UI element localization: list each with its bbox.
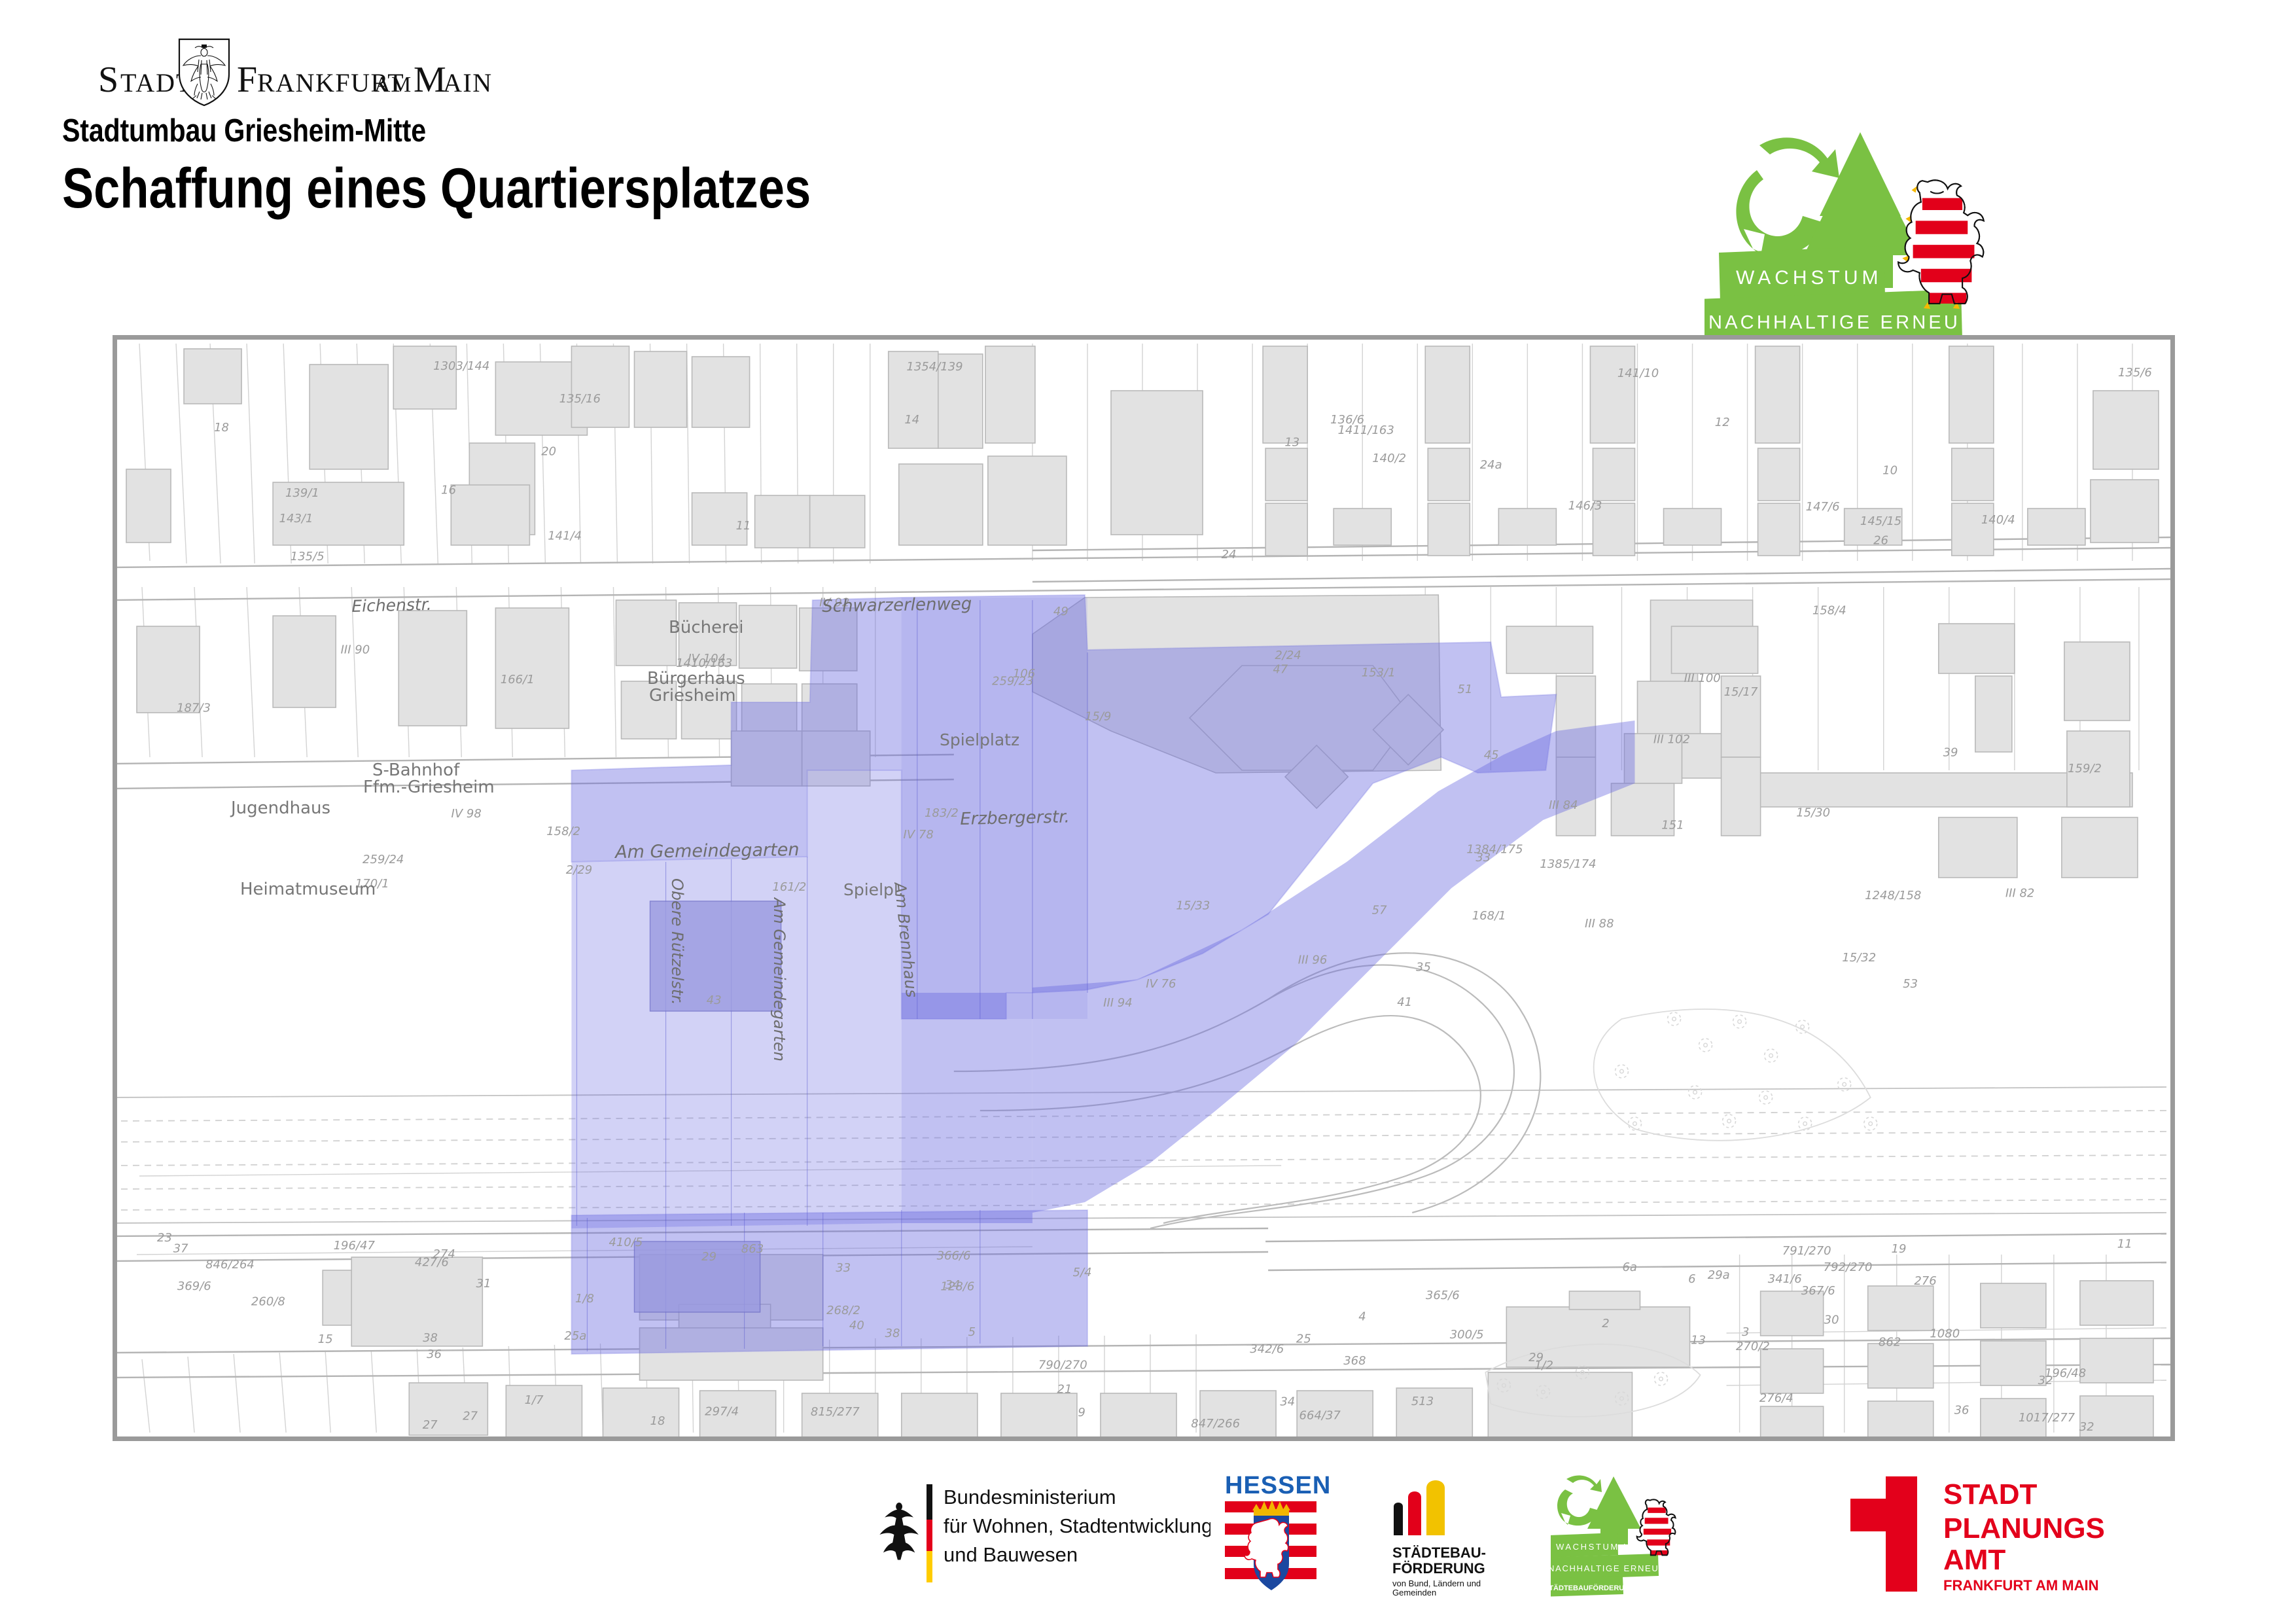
parcel-number: III 82: [2005, 887, 2035, 901]
map-drawing: 136/62424a26135/5135/16135/61354/139139/…: [116, 338, 2172, 1438]
parcel-number: 366/6: [937, 1249, 971, 1263]
parcel-number: 300/5: [1450, 1328, 1484, 1342]
page-subtitle: Stadtumbau Griesheim-Mitte: [62, 115, 1326, 147]
footer-logo-bar: Bundesministerium für Wohnen, Stadtentwi…: [0, 1472, 2296, 1603]
parcel-number: 158/2: [546, 825, 580, 838]
street-label-0: Eichenstr.: [351, 595, 432, 616]
parcel-number: 31: [476, 1277, 491, 1291]
parcel-number: 792/270: [1824, 1260, 1873, 1274]
parcel-number: 135/6: [2118, 366, 2152, 380]
parcel-number: 29: [701, 1250, 716, 1264]
parcel-number: 368: [1343, 1354, 1366, 1368]
parcel-number: 51: [1458, 683, 1473, 696]
three-houses-icon: [1394, 1480, 1445, 1535]
parcel-number: 25a: [564, 1329, 586, 1343]
parcel-number: 183/2: [925, 806, 959, 820]
place-label-6: Heimatmuseum: [240, 880, 376, 899]
parcel-number: 863: [741, 1242, 764, 1256]
parcel-number: IV 98: [451, 807, 482, 821]
parcel-number: III 94: [1103, 996, 1133, 1010]
parcel-number: 276/4: [1759, 1391, 1793, 1405]
parcel-number: 846/264: [205, 1258, 255, 1272]
parcel-number: 410/5: [609, 1236, 643, 1249]
parcel-number: 1/2: [1534, 1359, 1553, 1372]
parcel-number: 161/2: [772, 880, 806, 894]
parcel-number: 26: [1873, 534, 1888, 548]
street-label-1: Schwarzerlenweg: [822, 594, 972, 616]
parcel-number: 790/270: [1038, 1358, 1087, 1372]
parcel-number: 12: [1715, 416, 1730, 429]
parcel-number: 1303/144: [433, 359, 489, 373]
parcel-number: 1384/175: [1466, 842, 1523, 856]
parcel-number: 140/2: [1372, 452, 1406, 465]
parcel-number: 159/2: [2068, 762, 2102, 776]
svg-text:STÄDTEBAUFÖRDERUNG HESSEN: STÄDTEBAUFÖRDERUNG HESSEN: [1551, 1584, 1667, 1592]
parcel-number: 27: [463, 1410, 478, 1423]
parcel-number: 6a: [1622, 1260, 1636, 1274]
parcel-number: 57: [1372, 904, 1387, 918]
title-block: Stadtumbau Griesheim-Mitte Schaffung ein…: [62, 115, 1567, 217]
bmwsb-line-2: für Wohnen, Stadtentwicklung: [944, 1514, 1210, 1537]
parcel-number: 15/30: [1796, 806, 1830, 819]
parcel-number: 29a: [1708, 1268, 1730, 1282]
parcel-number: 513: [1411, 1395, 1434, 1408]
parcel-number: 140/4: [1981, 513, 2015, 527]
place-label-0: Bücherei: [669, 618, 743, 637]
hessen-wordmark: HESSEN: [1225, 1472, 1331, 1499]
staedtebau-line-4: Gemeinden: [1392, 1588, 1436, 1597]
parcel-number: 270/2: [1736, 1340, 1770, 1353]
parcel-number: 18: [214, 421, 229, 435]
parcel-number: 32: [2079, 1420, 2094, 1434]
parcel-number: III 102: [1653, 733, 1690, 747]
parcel-number: 15/33: [1176, 899, 1210, 912]
hessen-logo: HESSEN: [1217, 1472, 1341, 1597]
parcel-number: 19: [1892, 1242, 1907, 1256]
stadt-frankfurt-logo: S TADT F RANKFURT AM M: [98, 34, 517, 106]
street-label-3: Erzbergerstr.: [960, 807, 1070, 829]
parcel-number: 1017/277: [2019, 1411, 2075, 1425]
svg-text:WACHSTUM UND: WACHSTUM UND: [1556, 1542, 1647, 1552]
place-label-7: Spielplatz: [940, 730, 1019, 749]
badge-line-2: NACHHALTIGE ERNEUERUNG: [1708, 312, 2043, 333]
hessen-flag-icon: [1225, 1500, 1316, 1593]
badge-band-2-small: NACHHALTIGE ERNEUERUNG: [1551, 1554, 1695, 1580]
parcel-number: 341/6: [1768, 1272, 1802, 1286]
parcel-number: 25: [1296, 1332, 1311, 1346]
badge-band-3-small: STÄDTEBAUFÖRDERUNG HESSEN: [1551, 1576, 1667, 1597]
parcel-number: 49: [1053, 605, 1069, 618]
parcel-number: III 88: [1585, 917, 1614, 931]
place-label-8: Spielpl.: [843, 880, 904, 899]
bundesadler-icon: [879, 1503, 918, 1560]
parcel-number: 11: [736, 519, 751, 533]
staedtebau-line-2: FÖRDERUNG: [1392, 1560, 1485, 1577]
parcel-number: 145/15: [1860, 514, 1901, 528]
parcel-number: 38: [423, 1331, 438, 1345]
parcel-number: 369/6: [177, 1279, 211, 1293]
wachstum-und-nachhaltige-erneuerung-logo-small: WACHSTUM UND NACHHALTIGE ERNEUERUNG STÄD…: [1551, 1472, 1734, 1597]
parcel-number: 47: [1273, 663, 1288, 677]
parcel-number: 153/1: [1362, 666, 1396, 679]
parcel-number: IV 76: [1146, 977, 1176, 991]
parcel-number: III 84: [1549, 798, 1578, 812]
parcel-number: III 100: [1684, 671, 1721, 685]
svg-text:NACHHALTIGE ERNEUERUNG: NACHHALTIGE ERNEUERUNG: [1551, 1563, 1695, 1573]
parcel-number: 45: [1484, 749, 1499, 762]
parcel-number: 196/47: [334, 1239, 376, 1253]
parcel-number: 147/6: [1806, 500, 1840, 514]
parcel-number: 21: [1057, 1382, 1072, 1396]
svg-text:AM: AM: [374, 73, 412, 97]
parcel-number: 187/3: [177, 701, 211, 715]
parcel-number: 268/2: [826, 1304, 860, 1317]
spa-mark-icon: [1850, 1476, 1917, 1592]
parcel-number: 135/5: [291, 550, 325, 563]
hessen-lion-icon: [1898, 180, 1984, 309]
place-label-4: Ffm.-Griesheim: [363, 777, 495, 797]
parcel-number: 41: [1397, 995, 1412, 1009]
parcel-number: 2/24: [1275, 649, 1301, 662]
spa-line-2: PLANUNGS: [1943, 1512, 2105, 1544]
parcel-number: 15/9: [1085, 709, 1111, 723]
place-label-5: Jugendhaus: [231, 798, 330, 818]
street-label-4: Obere Rützelstr.: [668, 878, 686, 1005]
parcel-number: 38: [885, 1327, 900, 1340]
parcel-number: 2: [1602, 1317, 1609, 1330]
parcel-number: 297/4: [705, 1405, 739, 1419]
parcel-number: 367/6: [1801, 1284, 1835, 1298]
parcel-number: 1248/158: [1865, 889, 1921, 902]
parcel-number: 18: [650, 1414, 665, 1428]
parcel-number: 166/1: [501, 673, 535, 687]
bmwsb-line-3: und Bauwesen: [944, 1543, 1078, 1566]
parcel-number: 106: [1013, 667, 1035, 681]
parcel-number: 141/10: [1617, 366, 1659, 380]
parcel-number: 27: [423, 1418, 438, 1432]
parcel-number: 168/1: [1472, 909, 1506, 923]
place-label-2: Griesheim: [649, 686, 736, 705]
cadastral-map[interactable]: 136/62424a26135/5135/16135/61354/139139/…: [113, 335, 2175, 1441]
parcel-number: 14: [904, 413, 919, 427]
parcel-number: 43: [707, 993, 722, 1007]
parcel-number: 36: [427, 1347, 442, 1361]
svg-text:AIN: AIN: [443, 68, 493, 98]
street-label-2: Am Gemeindegarten: [615, 840, 800, 863]
parcel-number: 24a: [1480, 458, 1502, 472]
parcel-number: 260/8: [251, 1294, 285, 1308]
staedtebau-line-1: STÄDTEBAU-: [1392, 1544, 1486, 1561]
parcel-number: 141/4: [548, 529, 582, 543]
parcel-number: 1080: [1930, 1327, 1960, 1340]
parcel-number: 2/29: [566, 863, 592, 877]
badge-band-1-small: WACHSTUM UND: [1551, 1533, 1647, 1558]
parcel-number: 20: [541, 445, 556, 459]
parcel-number: 5/4: [1073, 1266, 1092, 1279]
parcel-number: 10: [1882, 463, 1898, 477]
parcel-number: 15: [318, 1332, 333, 1346]
parcel-number: 11: [2117, 1237, 2132, 1251]
parcel-number: 34: [1280, 1395, 1295, 1408]
parcel-number: 158/4: [1812, 603, 1846, 617]
parcel-number: 1385/174: [1540, 857, 1596, 871]
parcel-number: 427/6: [415, 1256, 449, 1270]
parcel-number: 9: [1078, 1406, 1085, 1419]
parcel-number: 151: [1661, 819, 1684, 832]
staedtebaufoerderung-logo: STÄDTEBAU- FÖRDERUNG von Bund, Ländern u…: [1381, 1472, 1531, 1597]
parcel-number: 276: [1914, 1274, 1936, 1288]
spa-line-4: FRANKFURT AM MAIN: [1943, 1577, 2098, 1594]
parcel-number: 16: [441, 484, 456, 497]
parcel-number: 13: [1284, 436, 1299, 450]
page-title: Schaffung eines Quartiersplatzes: [62, 160, 1326, 217]
parcel-number: 1/7: [525, 1393, 544, 1407]
parcel-number: 791/270: [1782, 1244, 1831, 1258]
parcel-number: 33: [836, 1261, 851, 1275]
parcel-number: 1411/163: [1338, 423, 1394, 437]
svg-text:S: S: [98, 60, 119, 100]
parcel-number: 35: [1416, 961, 1431, 974]
parcel-number: III 90: [341, 643, 370, 657]
parcel-number: 15/17: [1724, 685, 1758, 699]
parcel-number: 128/6: [940, 1279, 974, 1293]
parcel-number: 39: [1943, 745, 1958, 759]
parcel-number: 862: [1879, 1336, 1901, 1349]
parcel-number: 36: [1954, 1404, 1969, 1418]
spa-line-3: AMT: [1943, 1544, 2005, 1576]
parcel-number: 6: [1688, 1272, 1695, 1286]
parcel-number: 30: [1824, 1313, 1839, 1327]
parcel-number: 5: [968, 1325, 976, 1339]
parcel-number: 146/3: [1568, 499, 1602, 513]
parcel-number: III 96: [1298, 954, 1328, 967]
parcel-number: 143/1: [279, 512, 313, 526]
stadtplanungsamt-logo: STADT PLANUNGS AMT FRANKFURT AM MAIN: [1826, 1472, 2166, 1597]
parcel-number: 1354/139: [906, 360, 963, 374]
parcel-number: 13: [1691, 1334, 1706, 1347]
parcel-number: 664/37: [1299, 1409, 1341, 1423]
parcel-number: 24: [1222, 548, 1237, 562]
bundesministerium-logo: Bundesministerium für Wohnen, Stadtentwi…: [870, 1472, 1210, 1597]
street-label-5: Am Gemeindegarten: [770, 898, 788, 1061]
staedtebau-line-3: von Bund, Ländern und: [1392, 1578, 1481, 1588]
parcel-number: 135/16: [559, 392, 601, 406]
parcel-number: 342/6: [1250, 1342, 1284, 1356]
parcel-number: 37: [173, 1241, 188, 1255]
svg-text:M: M: [414, 60, 446, 100]
parcel-number: 53: [1903, 977, 1918, 991]
bmwsb-line-1: Bundesministerium: [944, 1486, 1116, 1508]
parcel-number: 40: [849, 1319, 864, 1332]
parcel-number: 139/1: [285, 486, 319, 500]
parcel-number: 23: [157, 1231, 172, 1245]
parcel-number: 32: [2038, 1374, 2053, 1387]
parcel-number: 847/266: [1191, 1417, 1240, 1431]
parcel-number: IV 78: [904, 828, 934, 842]
spa-line-1: STADT: [1943, 1478, 2038, 1510]
parcel-number: 1/8: [575, 1292, 594, 1306]
svg-text:F: F: [237, 60, 257, 100]
parcel-number: 15/32: [1842, 951, 1876, 965]
parcel-number: 4: [1358, 1310, 1366, 1324]
parcel-number: 33: [1475, 851, 1491, 865]
parcel-number: 365/6: [1426, 1289, 1460, 1302]
parcel-number: 259/24: [362, 853, 404, 866]
parcel-number: IV 104: [688, 652, 726, 666]
parcel-number: 3: [1742, 1325, 1749, 1339]
parcel-number: 815/277: [811, 1405, 860, 1419]
